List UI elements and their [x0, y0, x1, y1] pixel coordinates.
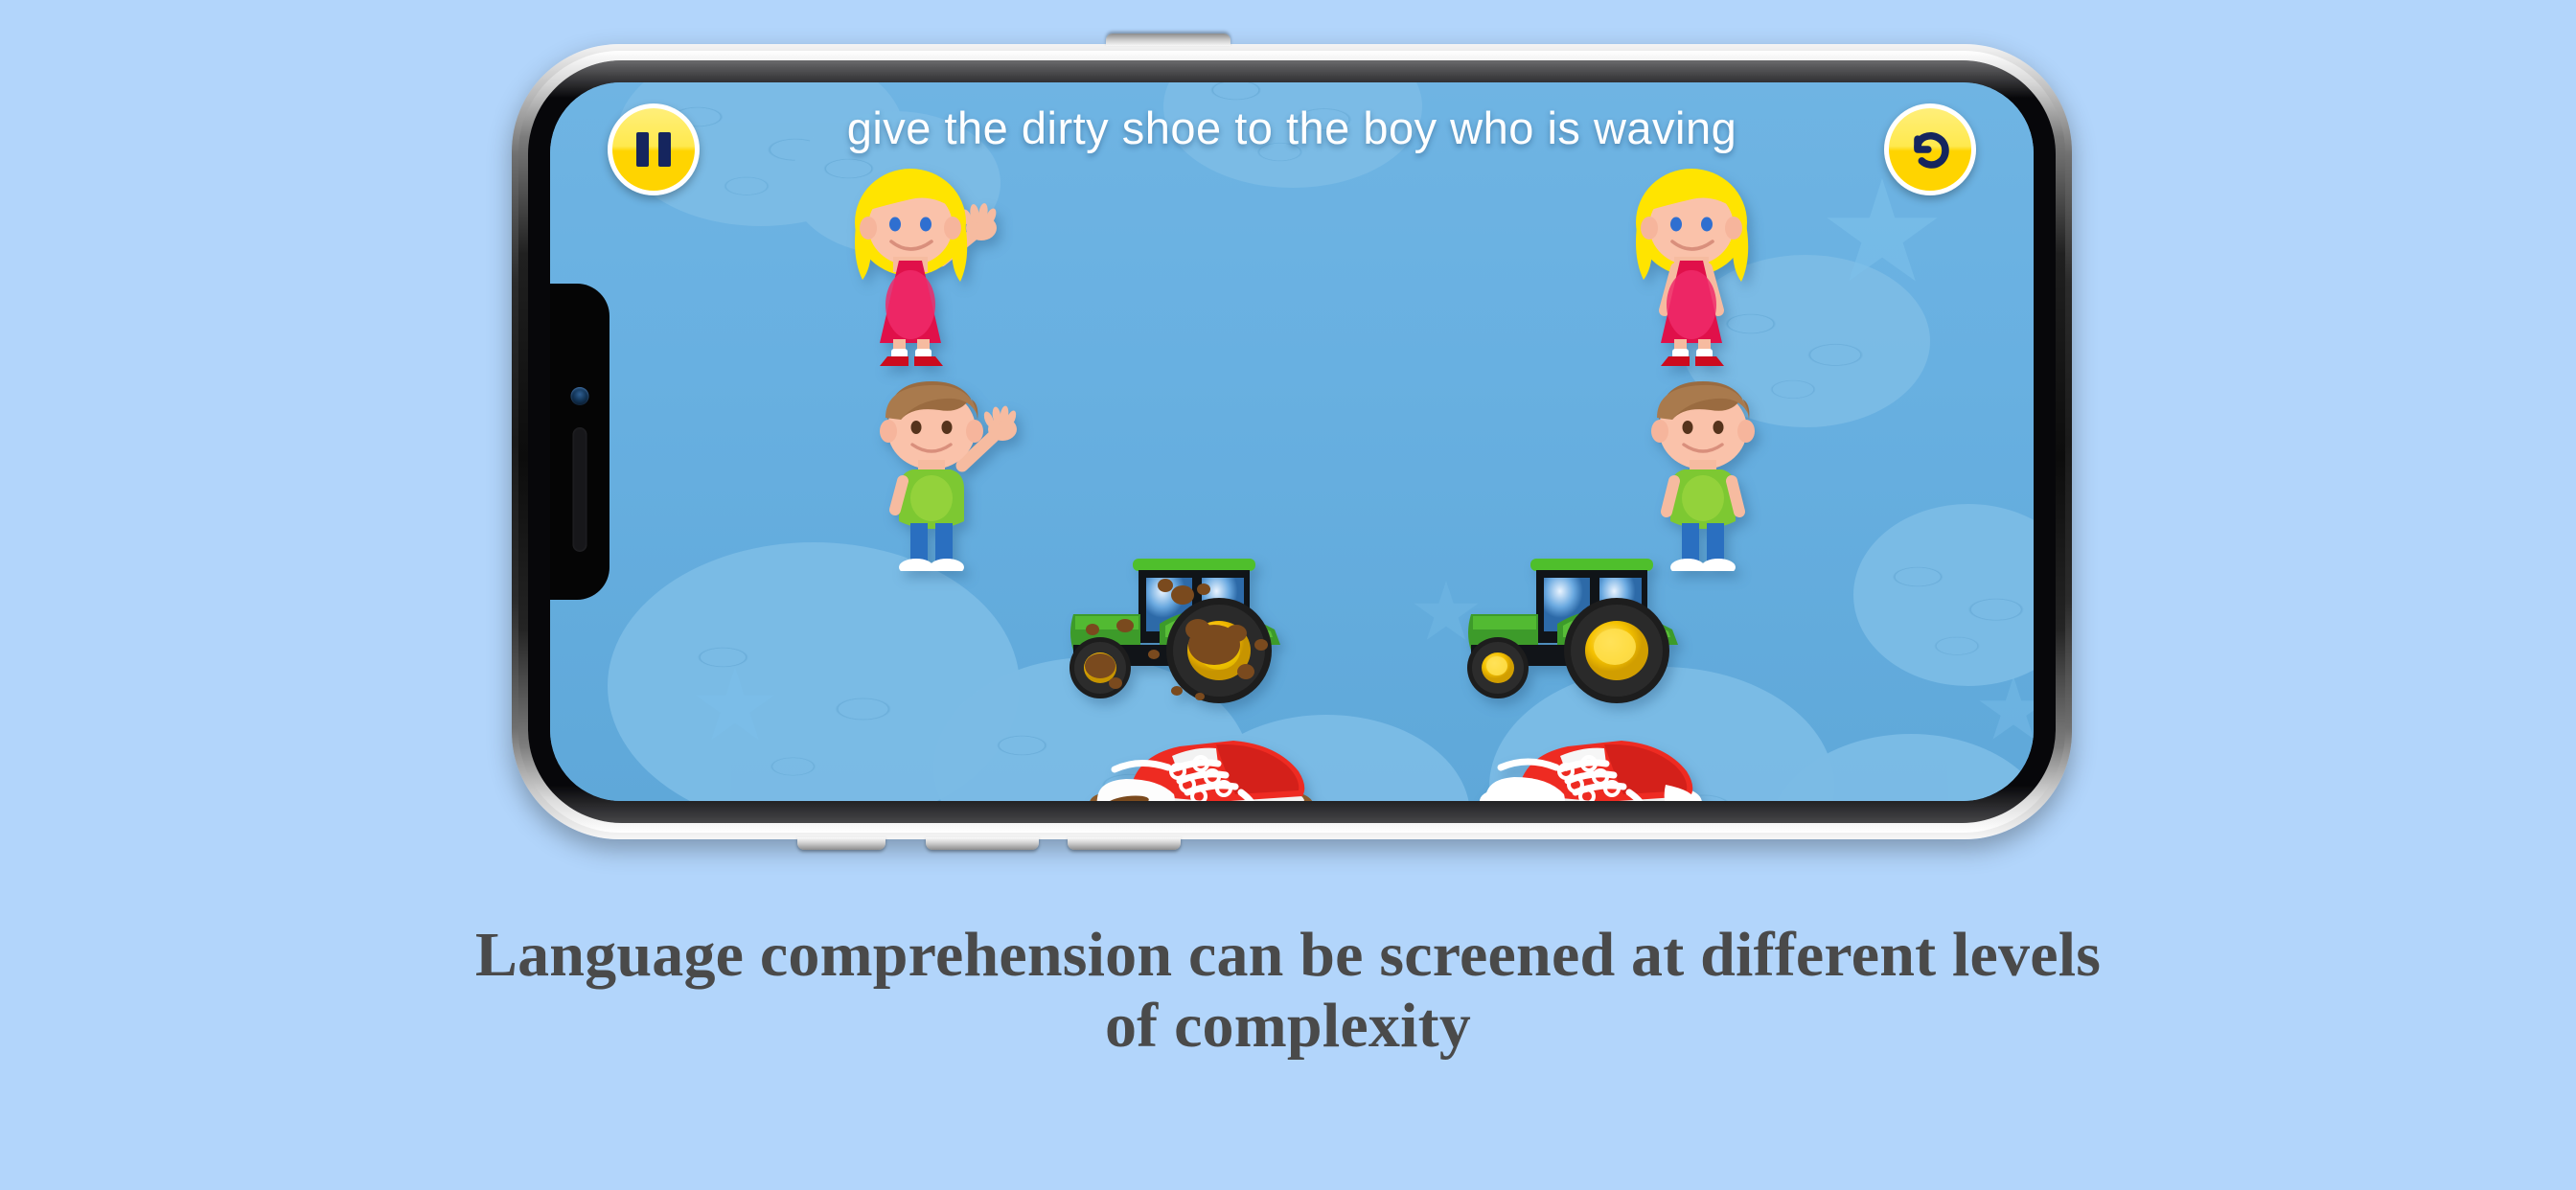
page-root: give the dirty shoe to the boy who is wa…	[0, 0, 2576, 1190]
cloud-shape	[1853, 504, 2034, 686]
phone-top-button[interactable]	[1106, 34, 1230, 46]
phone-side-button-3[interactable]	[1068, 837, 1181, 850]
choice-girl-waving[interactable]	[828, 161, 1020, 372]
caption-line-1: Language comprehension can be screened a…	[475, 920, 2101, 990]
caption-text: Language comprehension can be screened a…	[0, 920, 2576, 1062]
pause-button[interactable]	[608, 103, 700, 195]
star-shape	[1978, 676, 2034, 745]
pause-icon	[636, 132, 671, 167]
choice-girl-standing[interactable]	[1609, 161, 1801, 372]
choice-tractor-clean[interactable]	[1456, 538, 1724, 710]
phone-screen: give the dirty shoe to the boy who is wa…	[550, 82, 2034, 801]
undo-arrow-icon	[1905, 125, 1955, 174]
caption-line-2: of complexity	[0, 991, 2576, 1062]
earpiece-speaker	[573, 427, 587, 552]
choice-shoe-dirty[interactable]	[1072, 700, 1360, 801]
phone-side-button-1[interactable]	[797, 837, 885, 850]
phone-side-button-2[interactable]	[926, 837, 1039, 850]
front-camera-icon	[571, 387, 589, 405]
choice-shoe-clean[interactable]	[1460, 700, 1748, 801]
instruction-text: give the dirty shoe to the boy who is wa…	[550, 102, 2034, 154]
choice-tractor-dirty[interactable]	[1058, 538, 1326, 710]
phone-notch	[550, 284, 609, 600]
phone-mockup: give the dirty shoe to the boy who is wa…	[512, 44, 2072, 839]
choice-boy-waving[interactable]	[857, 360, 1039, 571]
restart-button[interactable]	[1884, 103, 1976, 195]
